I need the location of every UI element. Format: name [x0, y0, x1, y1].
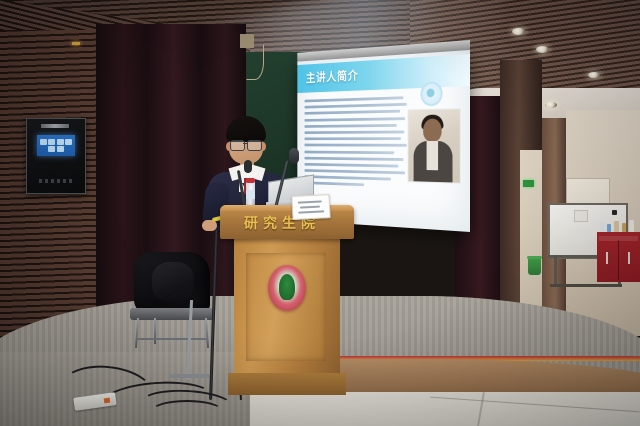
coat-fold — [152, 262, 194, 302]
bottle-on-cabinet — [622, 223, 626, 232]
glasses-icon — [247, 140, 262, 151]
waste-bin-lid — [527, 256, 542, 259]
portrait-shirt — [427, 141, 438, 170]
floor-cable — [150, 400, 224, 424]
whiteboard-base — [550, 284, 622, 287]
downlight-icon — [512, 28, 525, 35]
slide-portrait-photo — [408, 108, 461, 183]
bottle-on-cabinet — [607, 224, 611, 232]
stacking-chair — [128, 252, 220, 348]
lcd-key[interactable] — [57, 139, 64, 145]
microphone-head — [244, 160, 252, 173]
cabinet-handle[interactable] — [606, 252, 608, 264]
control-panel-buttons[interactable] — [39, 179, 73, 183]
mic-stand-foot — [170, 374, 210, 378]
lcd-key[interactable] — [65, 139, 72, 145]
waste-bin — [528, 258, 541, 275]
whiteboard-magnet-icon — [612, 210, 617, 215]
bottle-on-cabinet — [629, 220, 634, 232]
winter-coat — [134, 252, 210, 314]
presenter-hair — [226, 116, 266, 142]
chair-leg — [205, 318, 209, 348]
institution-seal-icon — [421, 81, 443, 106]
chair-cross-bar — [136, 338, 208, 340]
cabinet-door-seam — [618, 240, 619, 280]
chair-leg — [135, 318, 139, 348]
power-strip-switch[interactable] — [104, 398, 111, 404]
control-panel-brand — [41, 124, 69, 128]
exit-sign-icon — [523, 180, 534, 187]
slide-title: 主讲人简介 — [306, 66, 359, 86]
emblem-tree-icon — [279, 274, 295, 300]
bottle-on-cabinet — [614, 221, 619, 232]
wall-indicator-light — [72, 42, 80, 45]
lcd-key[interactable] — [57, 146, 64, 152]
portrait-head — [423, 118, 442, 141]
glasses-icon — [230, 140, 245, 151]
av-control-panel[interactable] — [26, 118, 86, 194]
lcd-key[interactable] — [48, 146, 55, 152]
podium: 研究生院 — [228, 205, 346, 393]
chair-seat — [130, 308, 214, 320]
bottle-cap — [246, 178, 255, 183]
bottle-label — [246, 190, 255, 199]
lecture-hall-photo: 主讲人简介 — [0, 0, 640, 426]
whiteboard-note — [574, 210, 588, 222]
control-panel-touchscreen[interactable] — [37, 135, 75, 156]
podium-top-edge — [220, 205, 354, 211]
speaker-name-card — [291, 194, 330, 220]
microphone-head — [289, 148, 299, 164]
university-emblem — [268, 265, 306, 311]
downlight-icon — [545, 102, 557, 108]
whiteboard-leg — [554, 255, 557, 285]
lcd-key[interactable] — [40, 139, 47, 145]
bottle-on-cabinet — [600, 222, 605, 232]
glasses-bridge — [243, 143, 247, 144]
seal-inner — [427, 88, 435, 97]
slide-body-text — [304, 96, 407, 192]
downlight-icon — [536, 46, 549, 53]
cabinet-handle[interactable] — [628, 252, 630, 264]
podium-base — [228, 373, 346, 395]
lcd-key[interactable] — [48, 139, 55, 145]
projector-cable — [246, 44, 264, 80]
downlight-icon — [588, 72, 600, 78]
chair-leg — [154, 318, 156, 344]
